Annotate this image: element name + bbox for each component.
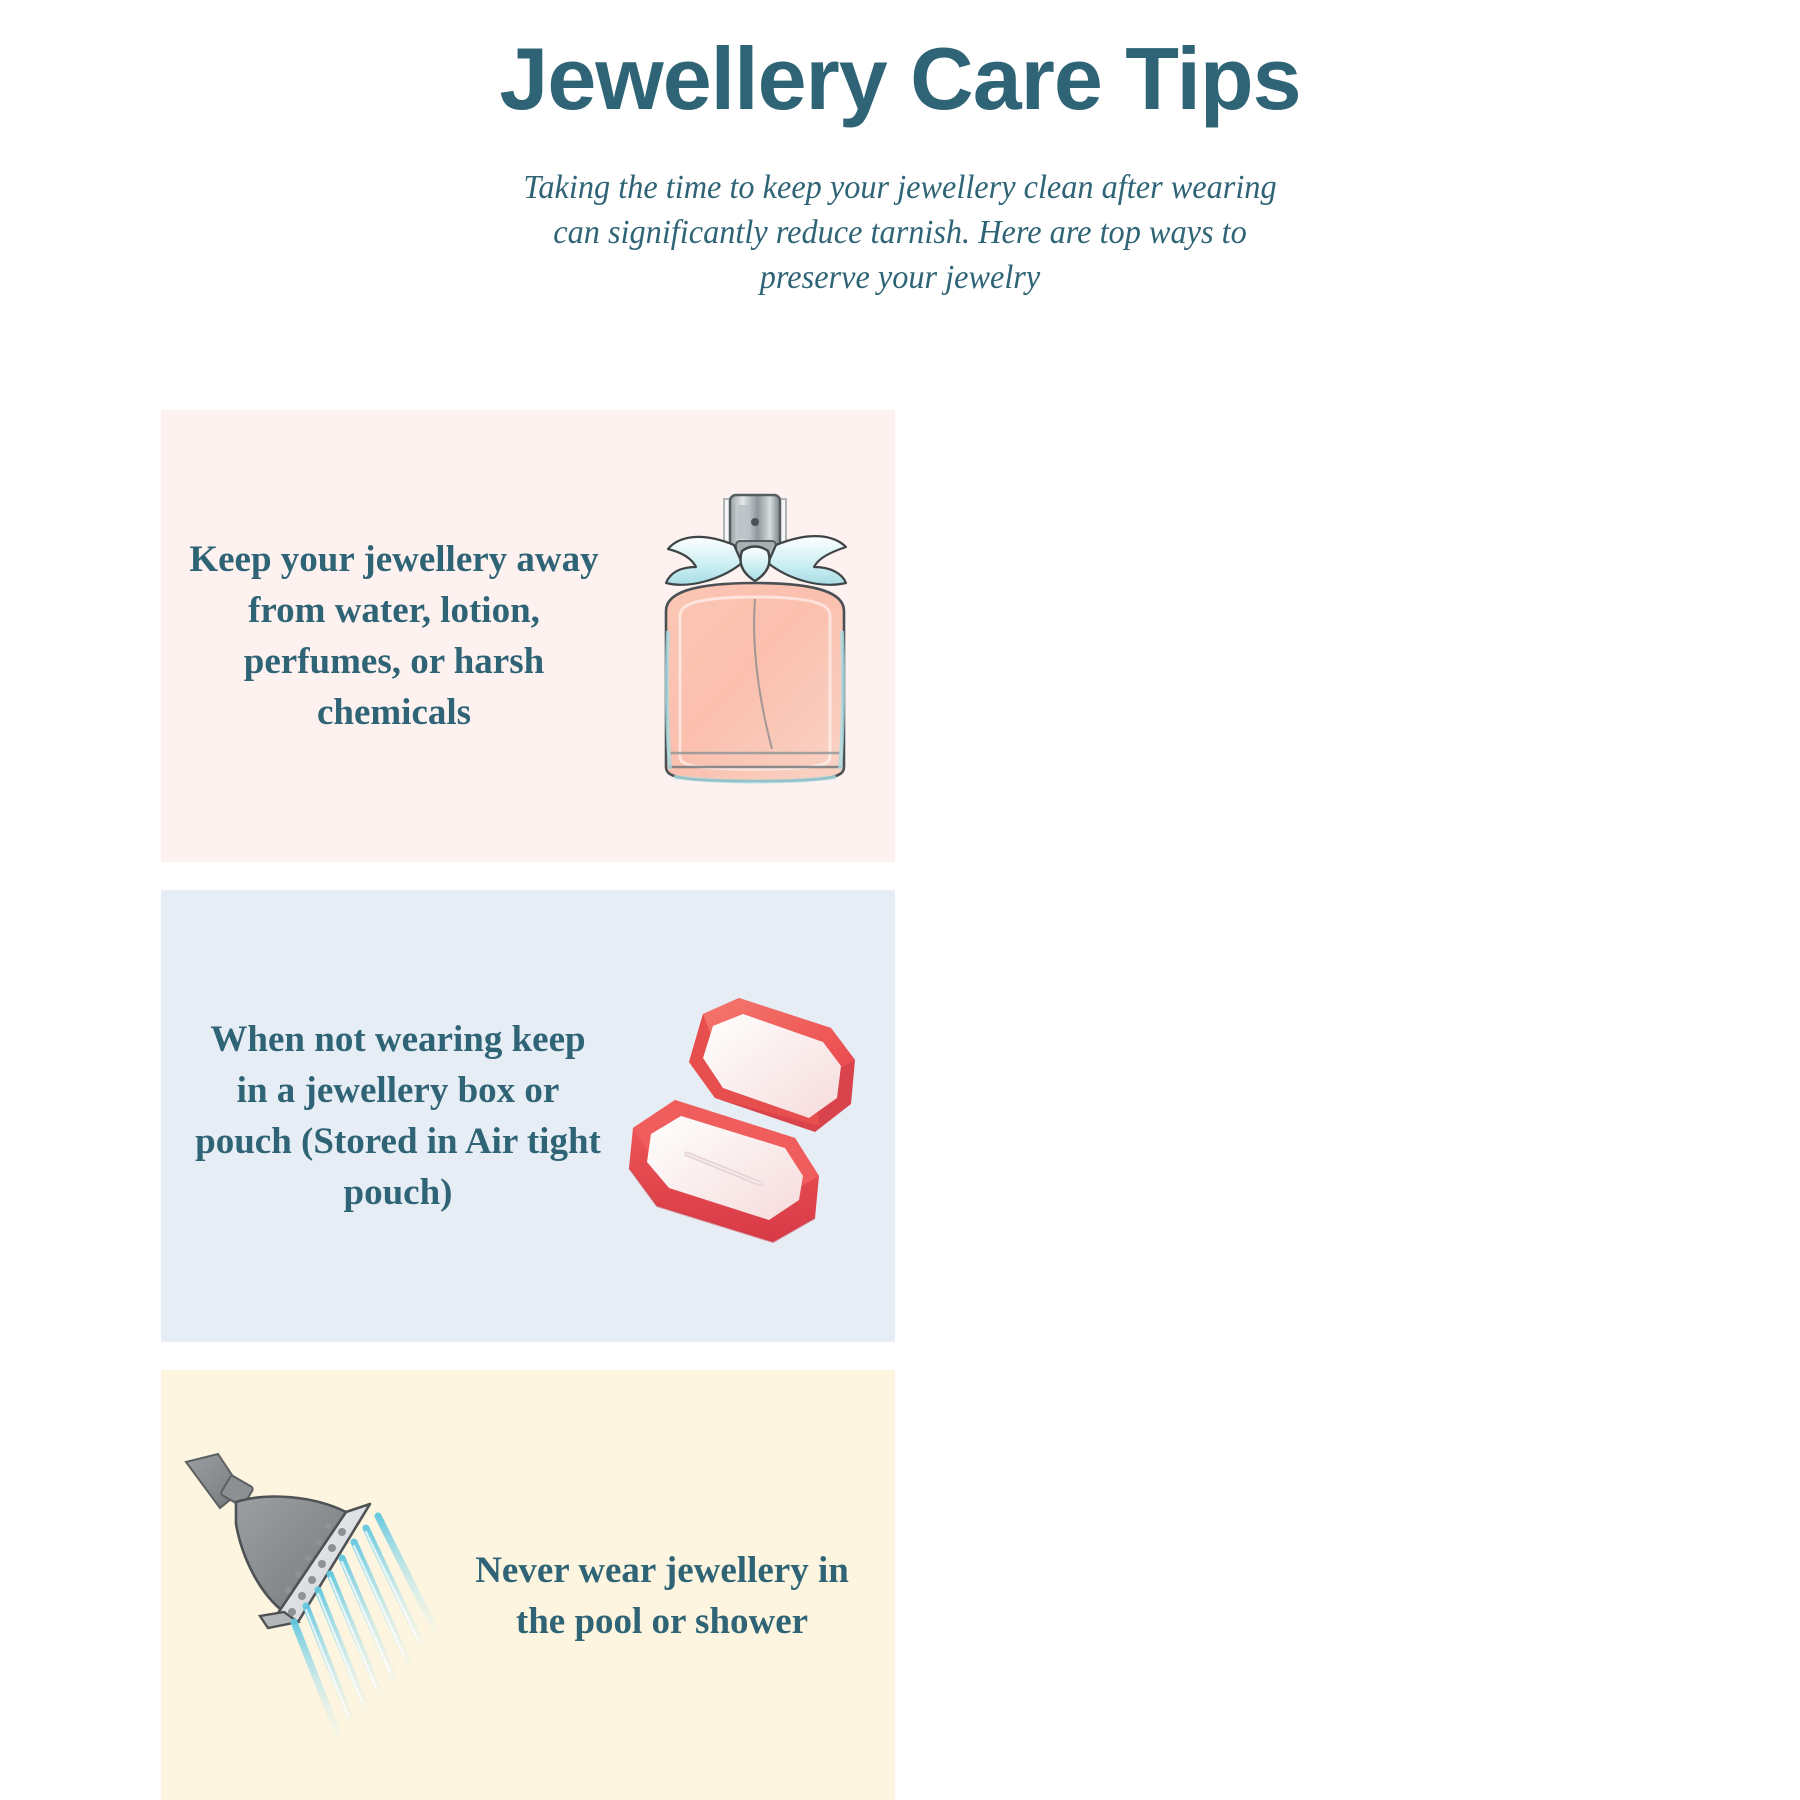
tip-card-1[interactable]: Keep your jewellery away from water, lot…: [161, 410, 895, 862]
page-title: Jewellery Care Tips: [0, 30, 1800, 129]
header: Jewellery Care Tips Taking the time to k…: [0, 0, 1800, 300]
tip-card-1-text: Keep your jewellery away from water, lot…: [179, 534, 609, 738]
infographic-page: Jewellery Care Tips Taking the time to k…: [0, 0, 1800, 1800]
tip-card-3[interactable]: Never wear jewellery in the pool or show…: [161, 1370, 895, 1800]
tips-grid: Keep your jewellery away from water, lot…: [161, 410, 1639, 1800]
shower-head-icon: [161, 1370, 447, 1800]
tip-card-2[interactable]: When not wearing keep in a jewellery box…: [161, 890, 895, 1342]
perfume-bottle-icon: [609, 410, 895, 862]
page-subtitle: Taking the time to keep your jewellery c…: [520, 165, 1280, 301]
jewellery-box-icon: [613, 890, 895, 1342]
tip-card-3-text: Never wear jewellery in the pool or show…: [447, 1545, 877, 1647]
tip-card-2-text: When not wearing keep in a jewellery box…: [183, 1014, 613, 1218]
